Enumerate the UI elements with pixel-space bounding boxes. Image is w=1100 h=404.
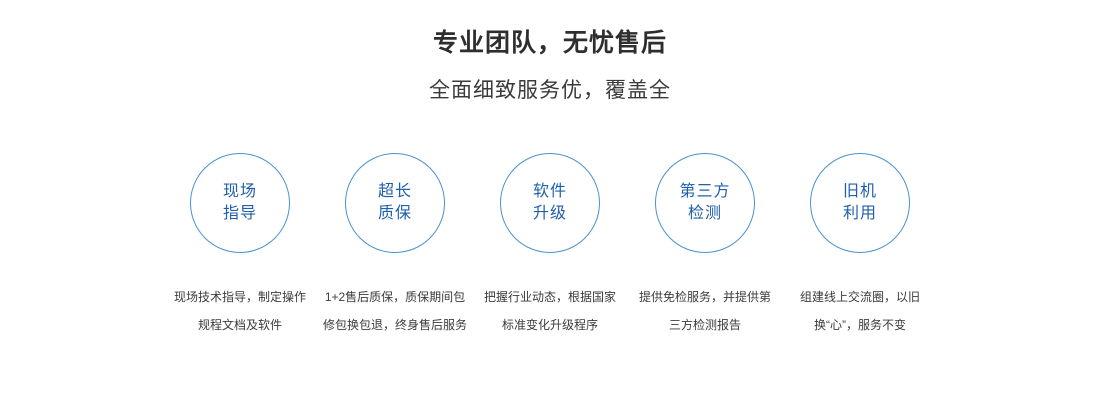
caption-line2: 标准变化升级程序: [473, 311, 628, 339]
feature-item-3: 软件 升级: [473, 153, 628, 253]
feature-circle-label-line2: 利用: [843, 203, 877, 225]
feature-caption-row: 现场技术指导，制定操作 规程文档及软件 1+2售后质保，质保期间包 修包换包退，…: [0, 283, 1100, 339]
feature-caption-3: 把握行业动态，根据国家 标准变化升级程序: [473, 283, 628, 339]
caption-line1: 现场技术指导，制定操作: [163, 283, 318, 311]
page-title: 专业团队，无忧售后: [0, 26, 1100, 60]
caption-line2: 修包换包退，终身售后服务: [318, 311, 473, 339]
feature-circle-on-site-guidance[interactable]: 现场 指导: [190, 153, 290, 253]
caption-line2: 三方检测报告: [628, 311, 783, 339]
feature-circle-label-line2: 检测: [688, 203, 722, 225]
feature-item-2: 超长 质保: [318, 153, 473, 253]
feature-caption-4: 提供免检服务，并提供第 三方检测报告: [628, 283, 783, 339]
feature-circle-label-line2: 质保: [378, 203, 412, 225]
feature-circle-label-line1: 第三方: [679, 181, 730, 203]
feature-circle-label-line1: 软件: [533, 181, 567, 203]
feature-circle-row: 现场 指导 超长 质保 软件 升级 第三方 检测 旧机: [0, 153, 1100, 253]
feature-caption-2: 1+2售后质保，质保期间包 修包换包退，终身售后服务: [318, 283, 473, 339]
feature-circle-label-line1: 超长: [378, 181, 412, 203]
page-subtitle: 全面细致服务优，覆盖全: [0, 76, 1100, 106]
feature-circle-third-party-testing[interactable]: 第三方 检测: [655, 153, 755, 253]
heading-block: 专业团队，无忧售后 全面细致服务优，覆盖全: [0, 0, 1100, 106]
feature-item-1: 现场 指导: [163, 153, 318, 253]
feature-item-5: 旧机 利用: [783, 153, 938, 253]
feature-item-4: 第三方 检测: [628, 153, 783, 253]
feature-caption-5: 组建线上交流圈，以旧 换“心”，服务不变: [783, 283, 938, 339]
feature-circle-extended-warranty[interactable]: 超长 质保: [345, 153, 445, 253]
caption-line1: 提供免检服务，并提供第: [628, 283, 783, 311]
caption-line2: 换“心”，服务不变: [783, 311, 938, 339]
caption-line1: 把握行业动态，根据国家: [473, 283, 628, 311]
caption-line1: 组建线上交流圈，以旧: [783, 283, 938, 311]
feature-circle-label-line2: 指导: [223, 203, 257, 225]
feature-circle-label-line1: 现场: [223, 181, 257, 203]
caption-line2: 规程文档及软件: [163, 311, 318, 339]
after-sales-service-section: 专业团队，无忧售后 全面细致服务优，覆盖全 现场 指导 超长 质保 软件 升级 …: [0, 0, 1100, 404]
feature-caption-1: 现场技术指导，制定操作 规程文档及软件: [163, 283, 318, 339]
caption-line1: 1+2售后质保，质保期间包: [318, 283, 473, 311]
feature-circle-label-line2: 升级: [533, 203, 567, 225]
feature-circle-old-machine-reuse[interactable]: 旧机 利用: [810, 153, 910, 253]
feature-circle-label-line1: 旧机: [843, 181, 877, 203]
feature-circle-software-upgrade[interactable]: 软件 升级: [500, 153, 600, 253]
